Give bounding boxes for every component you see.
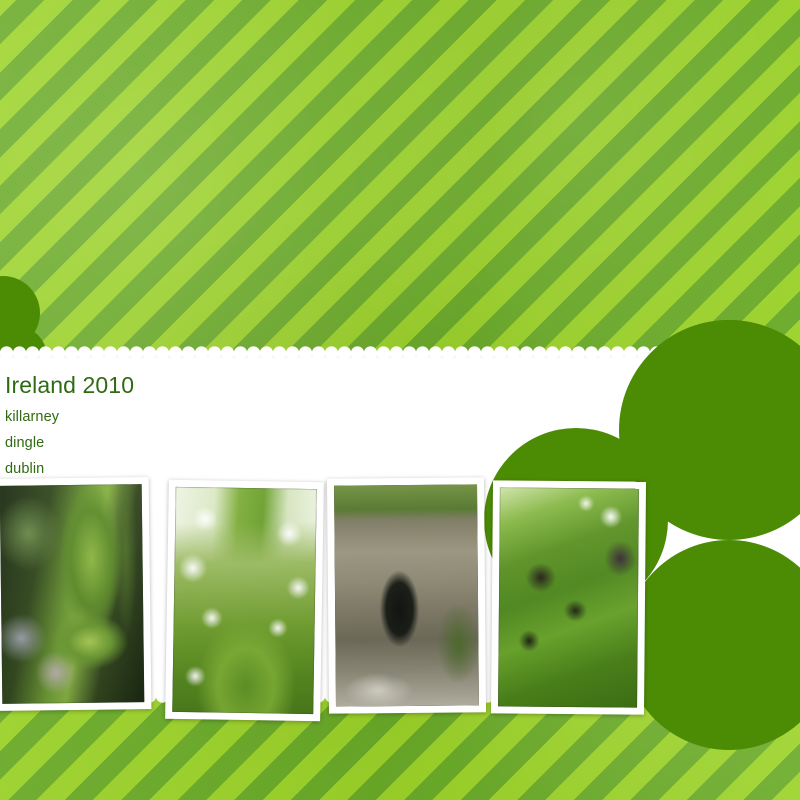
photo-image-2 xyxy=(172,487,317,714)
photo-image-1 xyxy=(0,484,144,704)
photo-image-3 xyxy=(334,484,479,706)
moss-trunk-forest-image xyxy=(0,484,144,704)
moss-macro-image xyxy=(498,487,639,707)
photo-frame-1[interactable] xyxy=(0,477,151,711)
band-text-block: Ireland 2010 killarney dingle dublin xyxy=(5,372,425,482)
photo-frame-3[interactable] xyxy=(327,477,486,713)
trunk-bokeh-image xyxy=(172,487,317,714)
photo-image-4 xyxy=(498,487,639,707)
destination-item-dingle[interactable]: dingle xyxy=(5,430,425,456)
scrapbook-page: Ireland 2010 killarney dingle dublin xyxy=(0,0,800,800)
photo-frame-2[interactable] xyxy=(165,480,324,721)
stone-arch-bridge-image xyxy=(334,484,479,706)
photo-frame-4[interactable] xyxy=(491,480,646,714)
page-title: Ireland 2010 xyxy=(5,372,425,399)
destination-item-killarney[interactable]: killarney xyxy=(5,404,425,430)
